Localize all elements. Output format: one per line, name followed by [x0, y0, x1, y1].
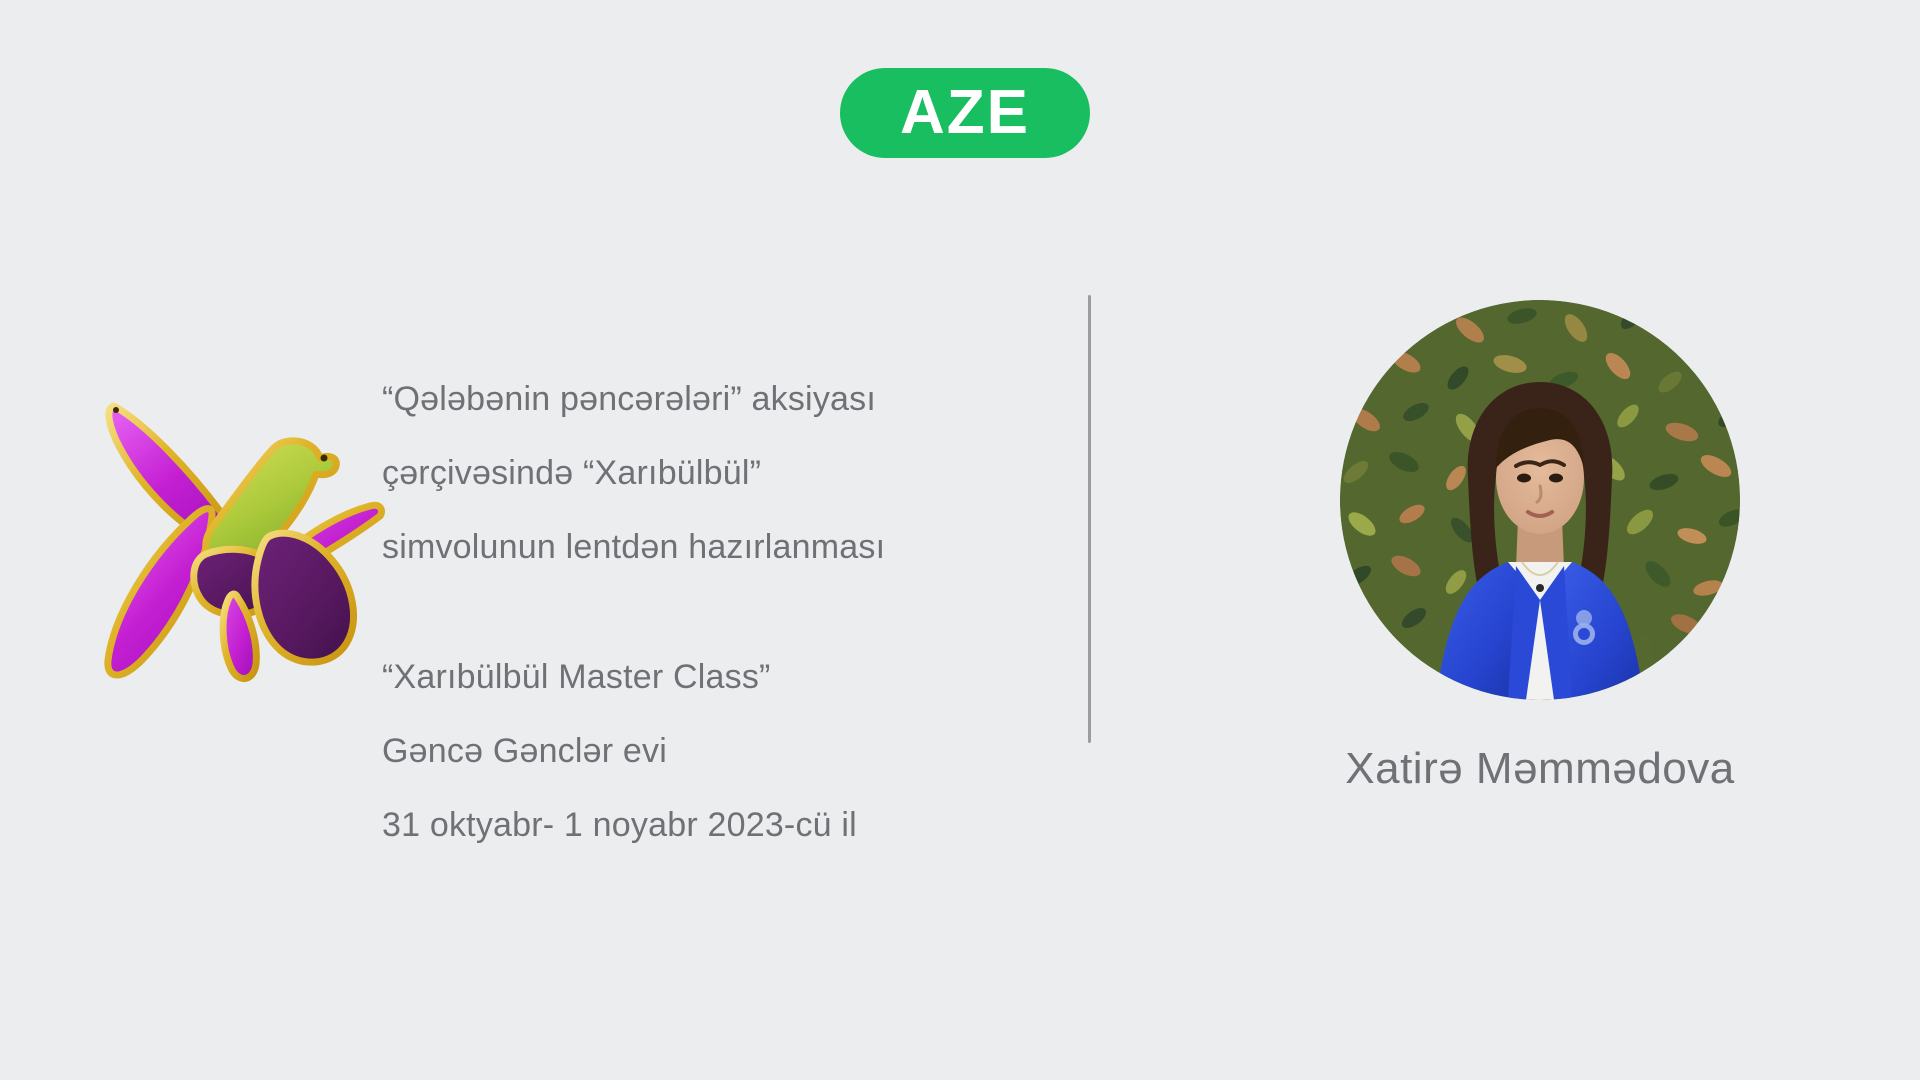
vertical-divider [1088, 295, 1091, 743]
paragraph-primary-line-3: simvolunun lentdən hazırlanması [382, 510, 1022, 584]
language-badge[interactable]: AZE [840, 68, 1090, 158]
paragraph-secondary-line-3: 31 oktyabr- 1 noyabr 2023-cü il [382, 788, 1022, 862]
speaker-portrait-avatar [1340, 300, 1740, 700]
paragraph-secondary-line-1: “Xarıbülbül Master Class” [382, 640, 1022, 714]
speaker-name: Xatirə Məmmədova [1240, 744, 1840, 794]
paragraph-secondary: “Xarıbülbül Master Class” Gəncə Gənclər … [382, 640, 1022, 862]
paragraph-primary-line-2: çərçivəsində “Xarıbülbül” [382, 436, 1022, 510]
language-badge-label: AZE [900, 82, 1030, 144]
paragraph-secondary-line-2: Gəncə Gənclər evi [382, 714, 1022, 788]
paragraph-primary-line-1: “Qələbənin pəncərələri” aksiyası [382, 362, 1022, 436]
xaribulbul-flower-emblem [88, 388, 388, 698]
paragraph-primary: “Qələbənin pəncərələri” aksiyası çərçivə… [382, 362, 1022, 584]
event-description-block: “Qələbənin pəncərələri” aksiyası çərçivə… [382, 362, 1022, 862]
